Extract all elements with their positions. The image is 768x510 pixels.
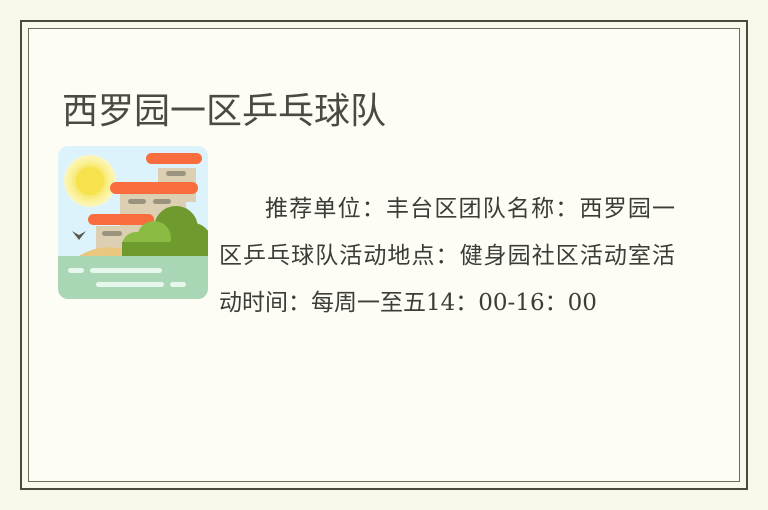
detail-recommending-unit-value: 丰台区 xyxy=(386,196,459,222)
landscape-illustration xyxy=(58,146,208,299)
article-outer-frame: 西罗园一区乒乓球队 xyxy=(20,20,748,490)
detail-activity-place-label: 活动地点： xyxy=(339,243,459,269)
detail-activity-place-value: 健身园社区活动室 xyxy=(460,243,652,269)
article-body: 推荐单位：丰台区团队名称：西罗园一区乒乓球队活动地点：健身园社区活动室活动时间：… xyxy=(29,133,739,481)
detail-activity-time-value: 每周一至五14：00-16：00 xyxy=(311,290,597,316)
detail-recommending-unit-label: 推荐单位： xyxy=(265,196,386,222)
article-inner-frame: 西罗园一区乒乓球队 xyxy=(28,28,740,482)
landscape-illustration-graphic xyxy=(58,146,208,299)
activity-details-paragraph: 推荐单位：丰台区团队名称：西罗园一区乒乓球队活动地点：健身园社区活动室活动时间：… xyxy=(219,186,675,327)
page-title: 西罗园一区乒乓球队 xyxy=(62,89,386,134)
detail-team-name-label: 团队名称： xyxy=(459,196,580,222)
